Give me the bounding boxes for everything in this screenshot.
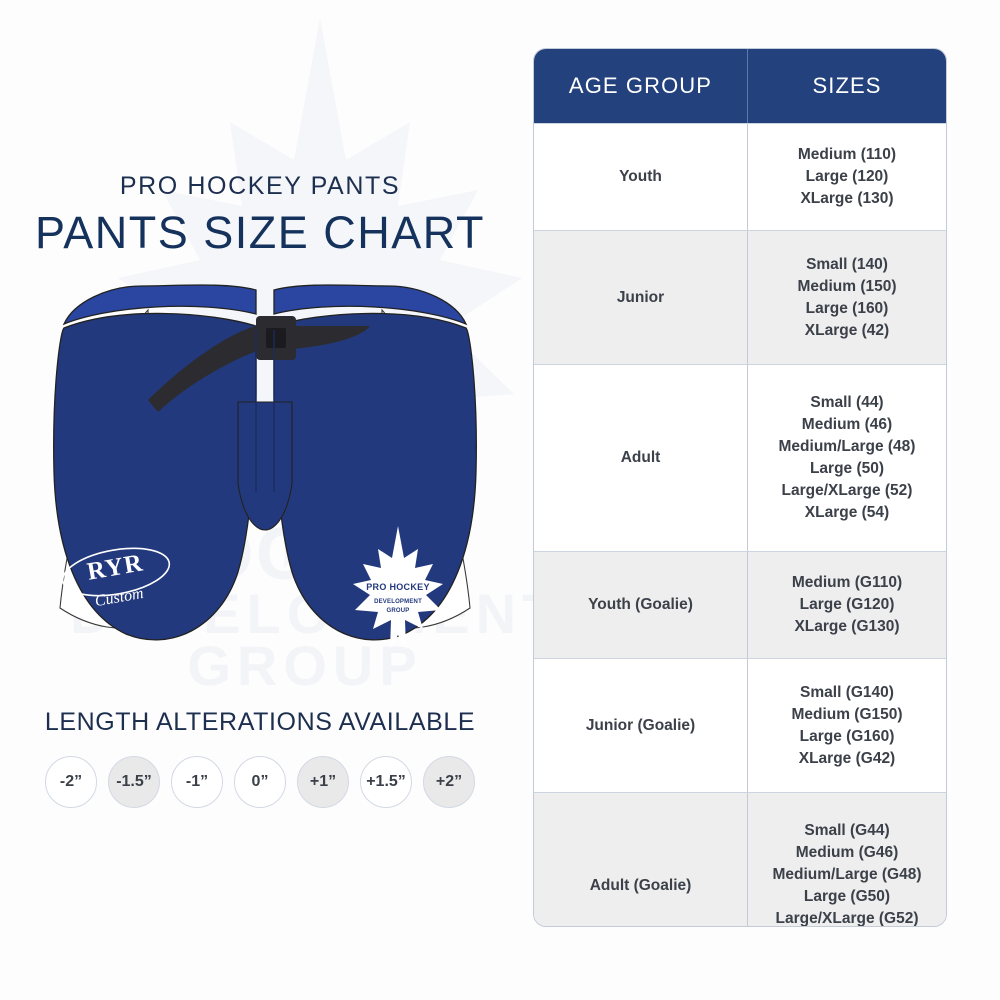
left-panel: PRO HOCKEY PANTS PANTS SIZE CHART RYR Cu…: [0, 0, 520, 1000]
size-option: Large (G120): [800, 594, 895, 616]
svg-text:DEVELOPMENT: DEVELOPMENT: [374, 599, 422, 605]
table-row: JuniorSmall (140)Medium (150)Large (160)…: [534, 230, 946, 364]
alteration-chip-2[interactable]: -1”: [171, 756, 223, 808]
size-option: Medium/Large (G48): [773, 864, 922, 886]
size-option: XLarge (G42): [799, 748, 895, 770]
size-option: Large (50): [810, 458, 884, 480]
cell-age-group: Junior: [534, 231, 748, 364]
size-option: Medium (G46): [796, 842, 898, 864]
alteration-chip-1[interactable]: -1.5”: [108, 756, 160, 808]
size-option: Medium/Large (48): [779, 436, 916, 458]
table-row: AdultSmall (44)Medium (46)Medium/Large (…: [534, 364, 946, 551]
size-option: XLarge (130): [800, 188, 893, 210]
size-option: Medium (G150): [791, 704, 902, 726]
alteration-chip-0[interactable]: -2”: [45, 756, 97, 808]
table-row: Youth (Goalie)Medium (G110)Large (G120)X…: [534, 551, 946, 658]
alteration-chip-3[interactable]: 0”: [234, 756, 286, 808]
cell-sizes: Small (140)Medium (150)Large (160)XLarge…: [748, 231, 946, 364]
page-supertitle: PRO HOCKEY PANTS: [0, 172, 520, 201]
size-option: XLarge (42): [805, 320, 889, 342]
size-option: Small (140): [806, 254, 888, 276]
cell-age-group: Youth: [534, 124, 748, 230]
table-row: YouthMedium (110)Large (120)XLarge (130): [534, 123, 946, 230]
page-title-block: PRO HOCKEY PANTS PANTS SIZE CHART: [0, 172, 520, 259]
column-header-sizes: SIZES: [748, 49, 946, 123]
cell-age-group: Adult (Goalie): [534, 793, 748, 927]
size-option: Large/XLarge (52): [782, 480, 913, 502]
size-option: XLarge (G130): [794, 616, 899, 638]
size-option: Large (160): [806, 298, 889, 320]
table-row: Adult (Goalie)Small (G44)Medium (G46)Med…: [534, 792, 946, 927]
alteration-chip-5[interactable]: +1.5”: [360, 756, 412, 808]
size-option: Large (G160): [800, 726, 895, 748]
page-title: PANTS SIZE CHART: [0, 207, 520, 259]
cell-sizes: Small (G44)Medium (G46)Medium/Large (G48…: [748, 793, 946, 927]
svg-text:GROUP: GROUP: [386, 608, 409, 614]
alteration-chip-list: -2”-1.5”-1”0”+1”+1.5”+2”: [0, 756, 520, 808]
alteration-chip-4[interactable]: +1”: [297, 756, 349, 808]
cell-age-group: Adult: [534, 365, 748, 551]
alteration-chip-6[interactable]: +2”: [423, 756, 475, 808]
table-body: YouthMedium (110)Large (120)XLarge (130)…: [534, 123, 946, 927]
size-option: Medium (46): [802, 414, 892, 436]
size-option: Large (120): [806, 166, 889, 188]
size-option: Medium (110): [798, 144, 896, 166]
cell-sizes: Small (44)Medium (46)Medium/Large (48)La…: [748, 365, 946, 551]
cell-age-group: Junior (Goalie): [534, 659, 748, 792]
svg-text:PRO HOCKEY: PRO HOCKEY: [366, 582, 430, 592]
table-header-row: AGE GROUP SIZES: [534, 49, 946, 123]
size-option: Small (44): [810, 392, 883, 414]
cell-age-group: Youth (Goalie): [534, 552, 748, 658]
column-header-age-group: AGE GROUP: [534, 49, 748, 123]
size-option: Small (G44): [804, 820, 889, 842]
size-option: Small (G140): [800, 682, 894, 704]
size-option: Large/XLarge (G52): [776, 908, 919, 927]
hockey-pants-illustration: RYR Custom PRO HOCKEY DEVELOPMENT GROUP: [30, 272, 500, 662]
size-option: XLarge (54): [805, 502, 889, 524]
length-alterations-block: LENGTH ALTERATIONS AVAILABLE -2”-1.5”-1”…: [0, 708, 520, 808]
cell-sizes: Medium (110)Large (120)XLarge (130): [748, 124, 946, 230]
table-row: Junior (Goalie)Small (G140)Medium (G150)…: [534, 658, 946, 792]
cell-sizes: Medium (G110)Large (G120)XLarge (G130): [748, 552, 946, 658]
alterations-heading: LENGTH ALTERATIONS AVAILABLE: [0, 708, 520, 737]
size-option: Medium (150): [797, 276, 896, 298]
size-chart-table: AGE GROUP SIZES YouthMedium (110)Large (…: [533, 48, 947, 927]
cell-sizes: Small (G140)Medium (G150)Large (G160)XLa…: [748, 659, 946, 792]
size-option: Medium (G110): [792, 572, 902, 594]
size-option: Large (G50): [804, 886, 890, 908]
